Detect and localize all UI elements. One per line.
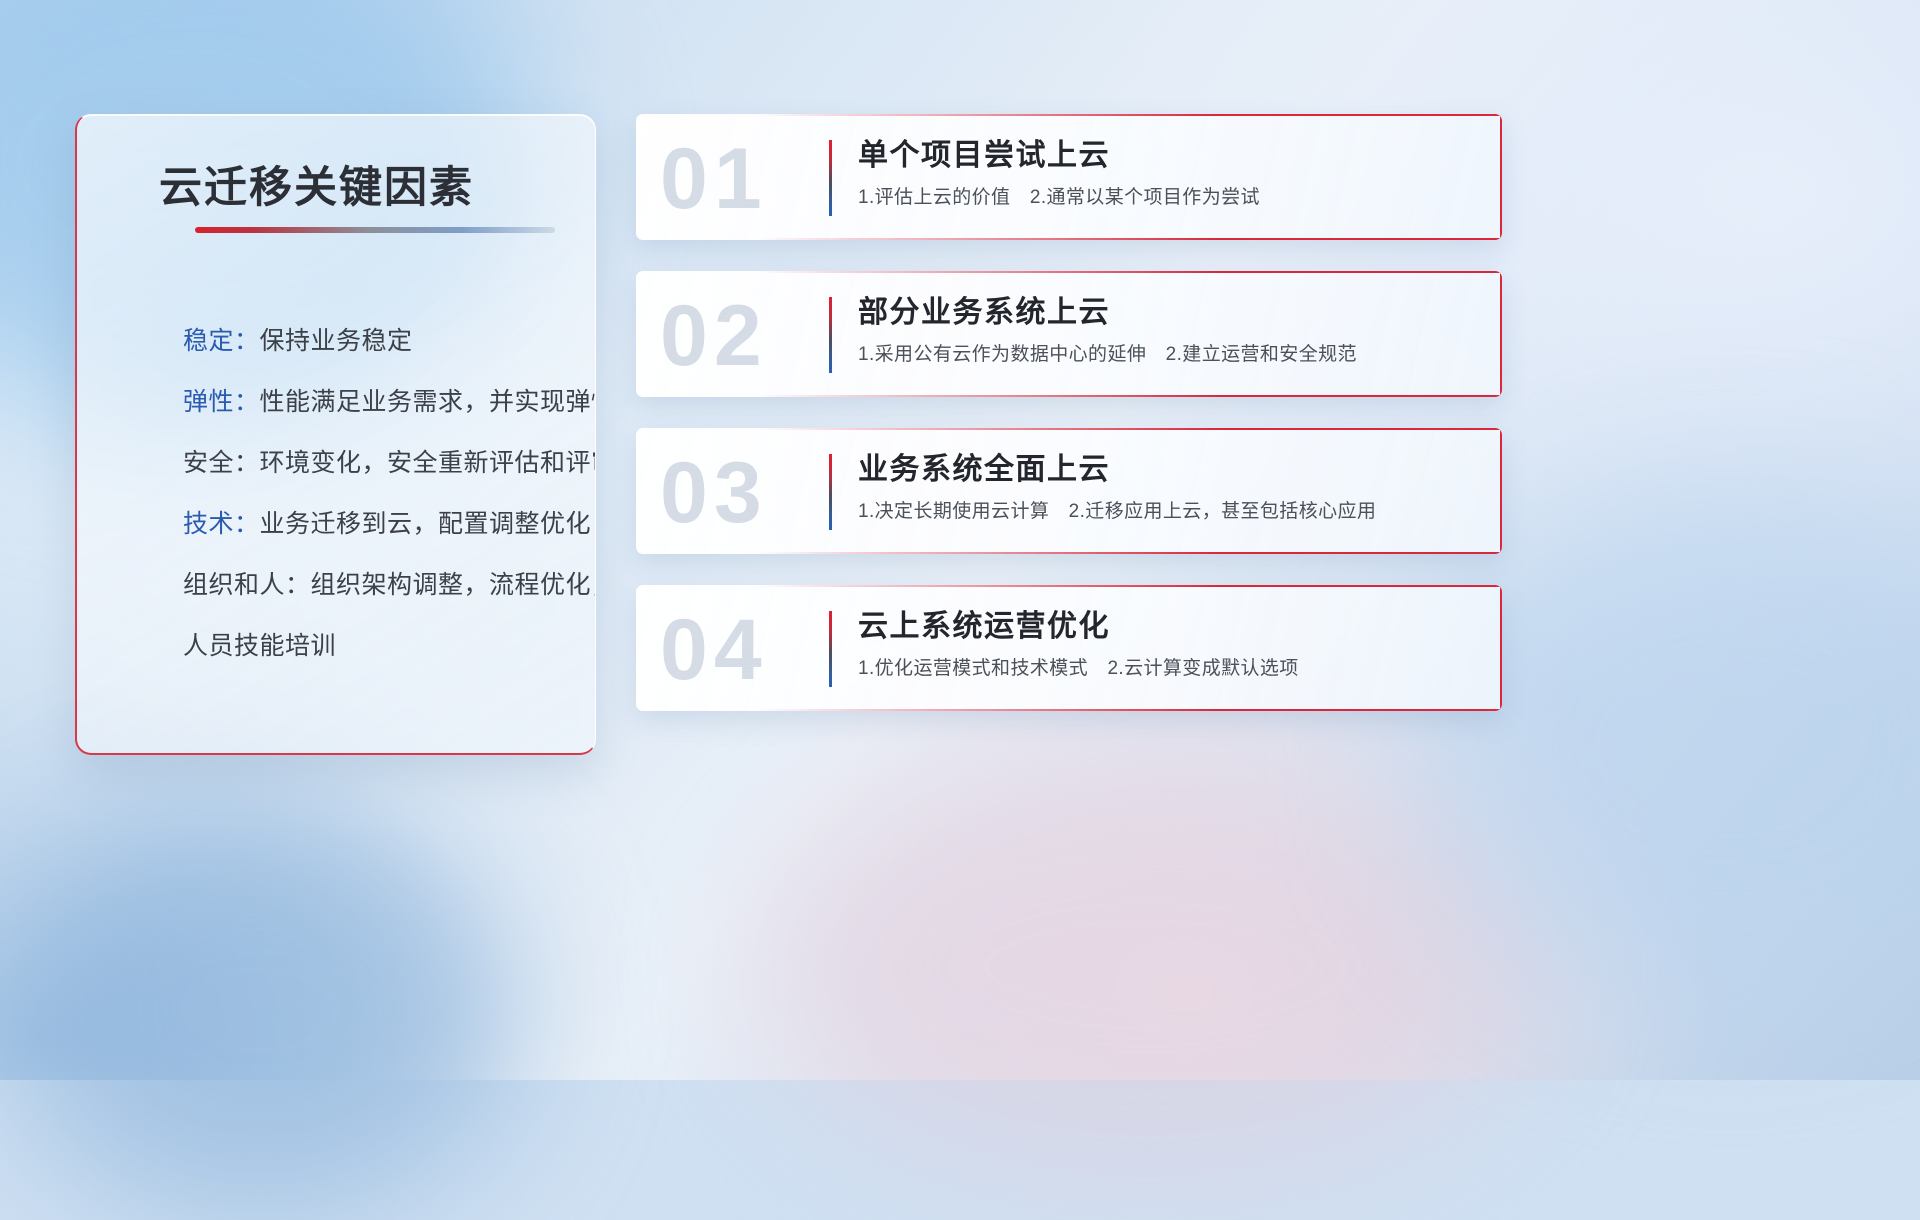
card-bottom-accent (757, 709, 1502, 711)
card-bottom-accent (757, 395, 1502, 397)
card-bottom-accent (757, 552, 1502, 554)
step-divider-bar (829, 297, 832, 373)
migration-steps-list: 01 单个项目尝试上云 1.评估上云的价值 2.通常以某个项目作为尝试 02 部… (636, 114, 1502, 742)
step-description: 1.评估上云的价值 2.通常以某个项目作为尝试 (858, 184, 1476, 212)
key-factors-panel: 云迁移关键因素 稳定：保持业务稳定 弹性：性能满足业务需求，并实现弹性 安全：环… (75, 114, 596, 755)
card-top-accent (757, 585, 1502, 587)
list-item-text: 业务迁移到云，配置调整优化 (260, 510, 592, 538)
list-item-label: 技术： (183, 510, 260, 538)
step-heading: 业务系统全面上云 (858, 448, 1476, 492)
list-item-continuation: 人员技能培训 (107, 616, 577, 677)
background-blob-bottom-left (0, 800, 520, 1220)
step-number: 03 (660, 434, 768, 552)
key-factors-list: 稳定：保持业务稳定 弹性：性能满足业务需求，并实现弹性 安全：环境变化，安全重新… (107, 311, 577, 677)
card-top-accent (757, 114, 1502, 116)
step-number: 02 (660, 277, 768, 395)
list-item-text: 环境变化，安全重新评估和评审 (260, 449, 596, 477)
step-description: 1.优化运营模式和技术模式 2.云计算变成默认选项 (858, 655, 1476, 683)
step-card-02[interactable]: 02 部分业务系统上云 1.采用公有云作为数据中心的延伸 2.建立运营和安全规范 (636, 271, 1502, 397)
card-right-accent (1500, 271, 1502, 397)
list-item-label: 组织和人： (183, 571, 311, 599)
card-right-accent (1500, 114, 1502, 240)
card-right-accent (1500, 585, 1502, 711)
list-item-label: 安全： (183, 449, 260, 477)
list-item: 技术：业务迁移到云，配置调整优化 (107, 494, 577, 555)
step-divider-bar (829, 454, 832, 530)
step-card-03[interactable]: 03 业务系统全面上云 1.决定长期使用云计算 2.迁移应用上云，甚至包括核心应… (636, 428, 1502, 554)
card-right-accent (1500, 428, 1502, 554)
step-heading: 单个项目尝试上云 (858, 134, 1476, 178)
card-top-accent (757, 428, 1502, 430)
step-number: 01 (660, 120, 768, 238)
step-body: 部分业务系统上云 1.采用公有云作为数据中心的延伸 2.建立运营和安全规范 (858, 291, 1476, 369)
step-number: 04 (660, 591, 768, 709)
step-body: 业务系统全面上云 1.决定长期使用云计算 2.迁移应用上云，甚至包括核心应用 (858, 448, 1476, 526)
step-card-04[interactable]: 04 云上系统运营优化 1.优化运营模式和技术模式 2.云计算变成默认选项 (636, 585, 1502, 711)
list-item-text: 组织架构调整，流程优化， (311, 571, 596, 599)
card-top-accent (757, 271, 1502, 273)
page-title: 云迁移关键因素 (159, 153, 474, 215)
step-body: 云上系统运营优化 1.优化运营模式和技术模式 2.云计算变成默认选项 (858, 605, 1476, 683)
list-item: 稳定：保持业务稳定 (107, 311, 577, 372)
step-description: 1.决定长期使用云计算 2.迁移应用上云，甚至包括核心应用 (858, 498, 1476, 526)
step-heading: 部分业务系统上云 (858, 291, 1476, 335)
list-item: 弹性：性能满足业务需求，并实现弹性 (107, 372, 577, 433)
step-card-01[interactable]: 01 单个项目尝试上云 1.评估上云的价值 2.通常以某个项目作为尝试 (636, 114, 1502, 240)
list-item: 安全：环境变化，安全重新评估和评审 (107, 433, 577, 494)
list-item: 组织和人：组织架构调整，流程优化， (107, 555, 577, 616)
card-bottom-accent (757, 238, 1502, 240)
list-item-text: 保持业务稳定 (260, 327, 413, 355)
step-divider-bar (829, 140, 832, 216)
step-description: 1.采用公有云作为数据中心的延伸 2.建立运营和安全规范 (858, 341, 1476, 369)
title-underline-gradient (195, 227, 555, 233)
list-item-label: 稳定： (183, 327, 260, 355)
step-body: 单个项目尝试上云 1.评估上云的价值 2.通常以某个项目作为尝试 (858, 134, 1476, 212)
step-heading: 云上系统运营优化 (858, 605, 1476, 649)
background-blob-bottom-center (768, 756, 1528, 1176)
step-divider-bar (829, 611, 832, 687)
list-item-text: 性能满足业务需求，并实现弹性 (260, 388, 596, 416)
list-item-label: 弹性： (183, 388, 260, 416)
